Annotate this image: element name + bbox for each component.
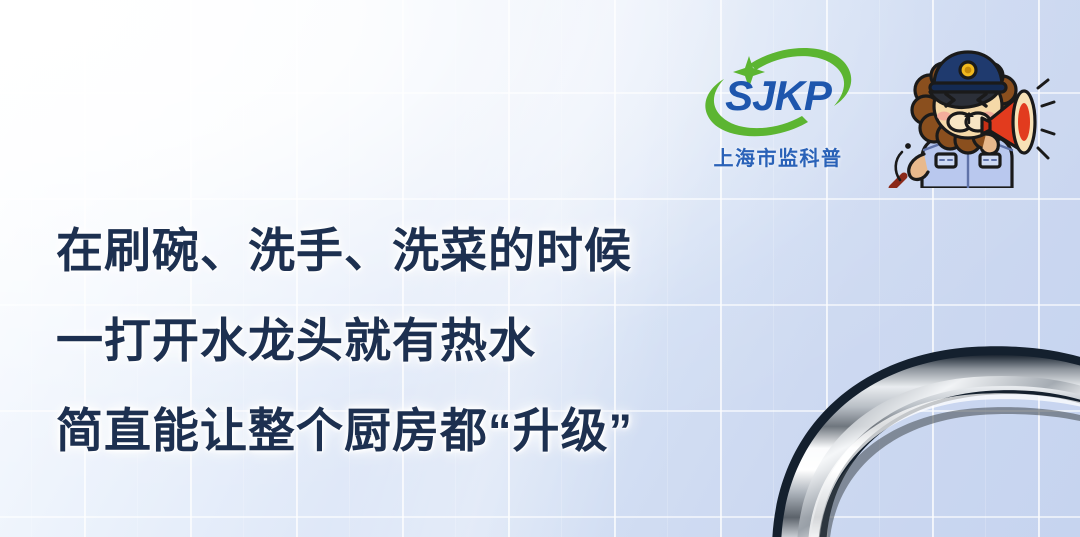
svg-text:SJKP: SJKP	[725, 72, 833, 119]
headline-line-3: 简直能让整个厨房都“升级”	[56, 386, 756, 476]
sjkp-logo: SJKP 上海市监科普	[688, 44, 868, 184]
chrome-faucet-arc	[756, 315, 1080, 537]
logo-subtitle: 上海市监科普	[688, 142, 868, 171]
logo-mark: SJKP	[688, 44, 868, 140]
headline-block: 在刷碗、洗手、洗菜的时候 一打开水龙头就有热水 简直能让整个厨房都“升级”	[56, 206, 756, 476]
headline-line-2: 一打开水龙头就有热水	[56, 296, 756, 386]
poster-canvas: 在刷碗、洗手、洗菜的时候 一打开水龙头就有热水 简直能让整个厨房都“升级” SJ…	[0, 0, 1080, 537]
lion-inspector-mascot	[878, 30, 1058, 188]
headline-line-1: 在刷碗、洗手、洗菜的时候	[56, 206, 756, 296]
logo-wordmark: SJKP	[725, 72, 833, 119]
sound-lines-icon	[1038, 80, 1054, 158]
